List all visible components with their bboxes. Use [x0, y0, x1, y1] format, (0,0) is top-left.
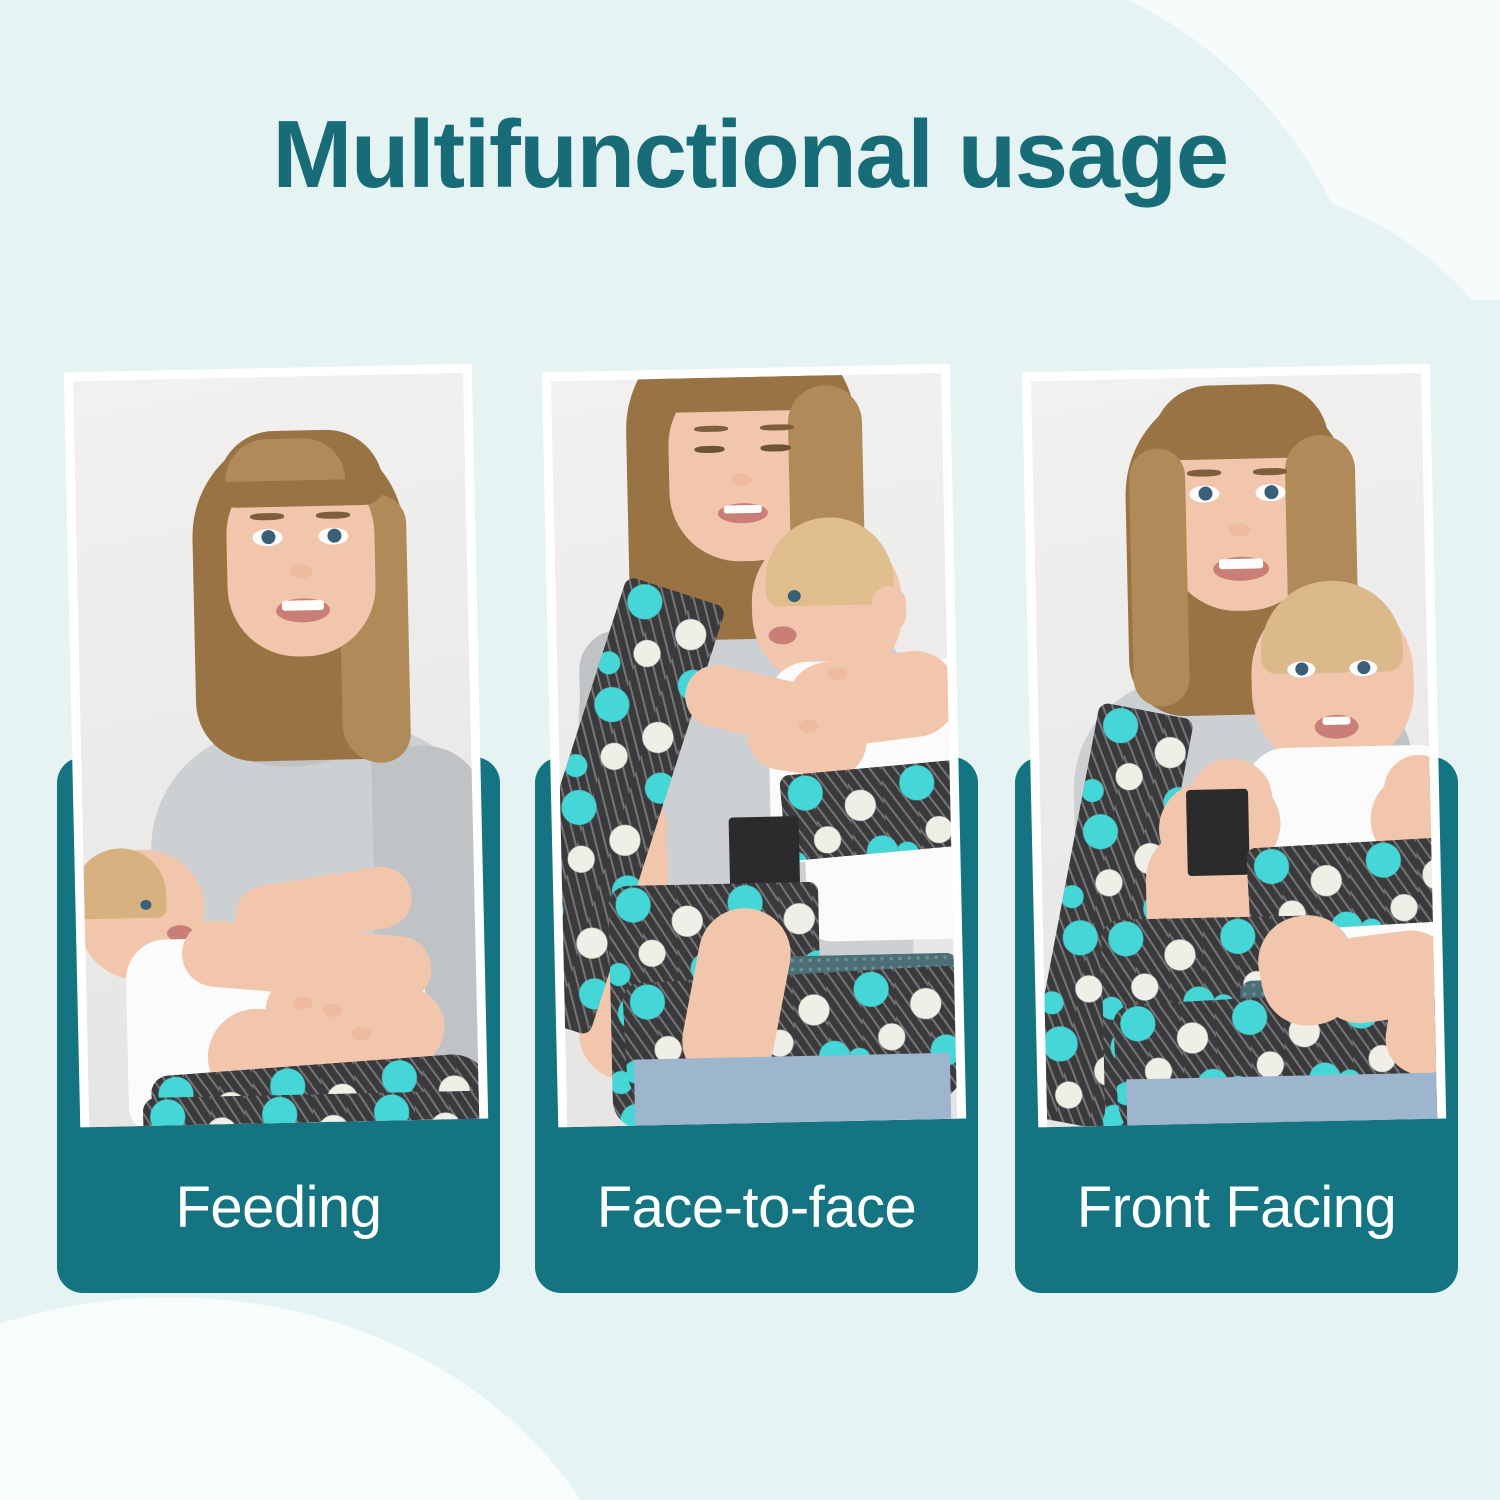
- photo-frame: [64, 364, 488, 1128]
- photo-front-facing: [1031, 373, 1437, 1127]
- card-label: Face-to-face: [535, 1179, 978, 1237]
- usage-card-list: Feeding: [0, 0, 1500, 1500]
- photo-frame: [1022, 364, 1446, 1128]
- usage-card-face-to-face[interactable]: Face-to-face: [478, 0, 978, 1500]
- photo-face-to-face: [551, 373, 957, 1127]
- card-label: Feeding: [57, 1179, 500, 1237]
- photo-feeding: [73, 373, 479, 1127]
- photo-frame: [542, 364, 966, 1128]
- usage-card-feeding[interactable]: Feeding: [0, 0, 500, 1500]
- card-label: Front Facing: [1015, 1179, 1458, 1237]
- usage-card-front-facing[interactable]: Front Facing: [958, 0, 1458, 1500]
